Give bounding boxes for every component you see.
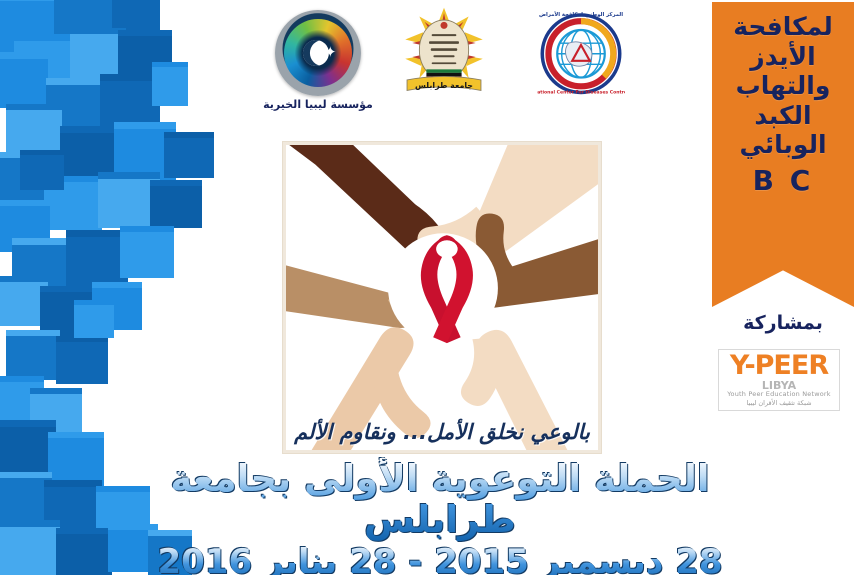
- banner-line-latin: B C: [712, 164, 854, 197]
- ypeer-english-subtitle: Youth Peer Education Network: [727, 391, 831, 399]
- banner-line-1: لمكافحة: [712, 12, 854, 42]
- cube-tile: [0, 520, 60, 575]
- campaign-title: الحملة التوعوية الأولى بجامعة طرابلس: [130, 458, 750, 541]
- svg-text:National Center For Diseases C: National Center For Diseases Control: [537, 89, 625, 95]
- cube-tile: [56, 528, 112, 575]
- ypeer-logo: Y-PEER LIBYA Youth Peer Education Networ…: [718, 349, 840, 411]
- svg-text:المركز الوطني لمكافحة الأمراض: المركز الوطني لمكافحة الأمراض: [539, 11, 623, 18]
- hands-circle-illustration: [286, 145, 598, 450]
- cube-tile: [152, 62, 188, 106]
- banner-line-5: الوبائي: [712, 130, 854, 160]
- logo-university-of-tripoli: جامعة طرابلس: [384, 4, 504, 96]
- participation-label: بمشاركة: [712, 312, 854, 334]
- national-center-disease-control-globe-icon: المركز الوطني لمكافحة الأمراض National C…: [537, 8, 625, 96]
- cube-tile: [120, 226, 174, 278]
- campaign-photo: بالوعي نخلق الأمل... ونقاوم الألم: [283, 142, 601, 453]
- cube-tile: [20, 150, 64, 190]
- photo-slogan: بالوعي نخلق الأمل... ونقاوم الألم: [286, 420, 598, 444]
- logo-ncdc: المركز الوطني لمكافحة الأمراض National C…: [516, 8, 646, 96]
- cube-tile: [0, 52, 48, 108]
- svg-text:جامعة طرابلس: جامعة طرابلس: [415, 81, 473, 91]
- campaign-dates: 28 ديسمبر 2015 - 28 يناير 2016: [130, 543, 750, 575]
- cube-tile: [74, 300, 114, 338]
- ypeer-wordmark: Y-PEER: [730, 353, 828, 379]
- banner-line-3: والتهاب: [712, 71, 854, 101]
- cube-tile: [48, 432, 104, 486]
- title-block: الحملة التوعوية الأولى بجامعة طرابلس 28 …: [130, 458, 750, 575]
- ypeer-arabic-subtitle: شبكة تثقيف الأقران ليبيا: [746, 399, 811, 407]
- university-of-tripoli-emblem-icon: جامعة طرابلس: [400, 4, 488, 96]
- orange-ribbon-banner: لمكافحة الأيدز والتهاب الكبد الوبائي B C: [712, 2, 854, 307]
- cube-tile: [6, 104, 62, 156]
- partner-logos-row: ✦ مؤسسة ليبيا الخيرية: [248, 2, 668, 128]
- cube-tile: [56, 336, 108, 384]
- cube-tile: [66, 230, 128, 288]
- cube-tile: [150, 180, 202, 228]
- logo-libya-charity: ✦ مؤسسة ليبيا الخيرية: [248, 10, 388, 111]
- poster-canvas: ✦ مؤسسة ليبيا الخيرية: [0, 0, 854, 575]
- cube-tile: [6, 330, 60, 380]
- logo-caption: مؤسسة ليبيا الخيرية: [248, 98, 388, 111]
- libya-charity-swirl-icon: ✦: [275, 10, 361, 96]
- banner-line-4: الكبد: [712, 101, 854, 131]
- banner-line-2: الأيدز: [712, 42, 854, 72]
- participation-block: بمشاركة: [712, 312, 854, 334]
- cube-tile: [164, 132, 214, 178]
